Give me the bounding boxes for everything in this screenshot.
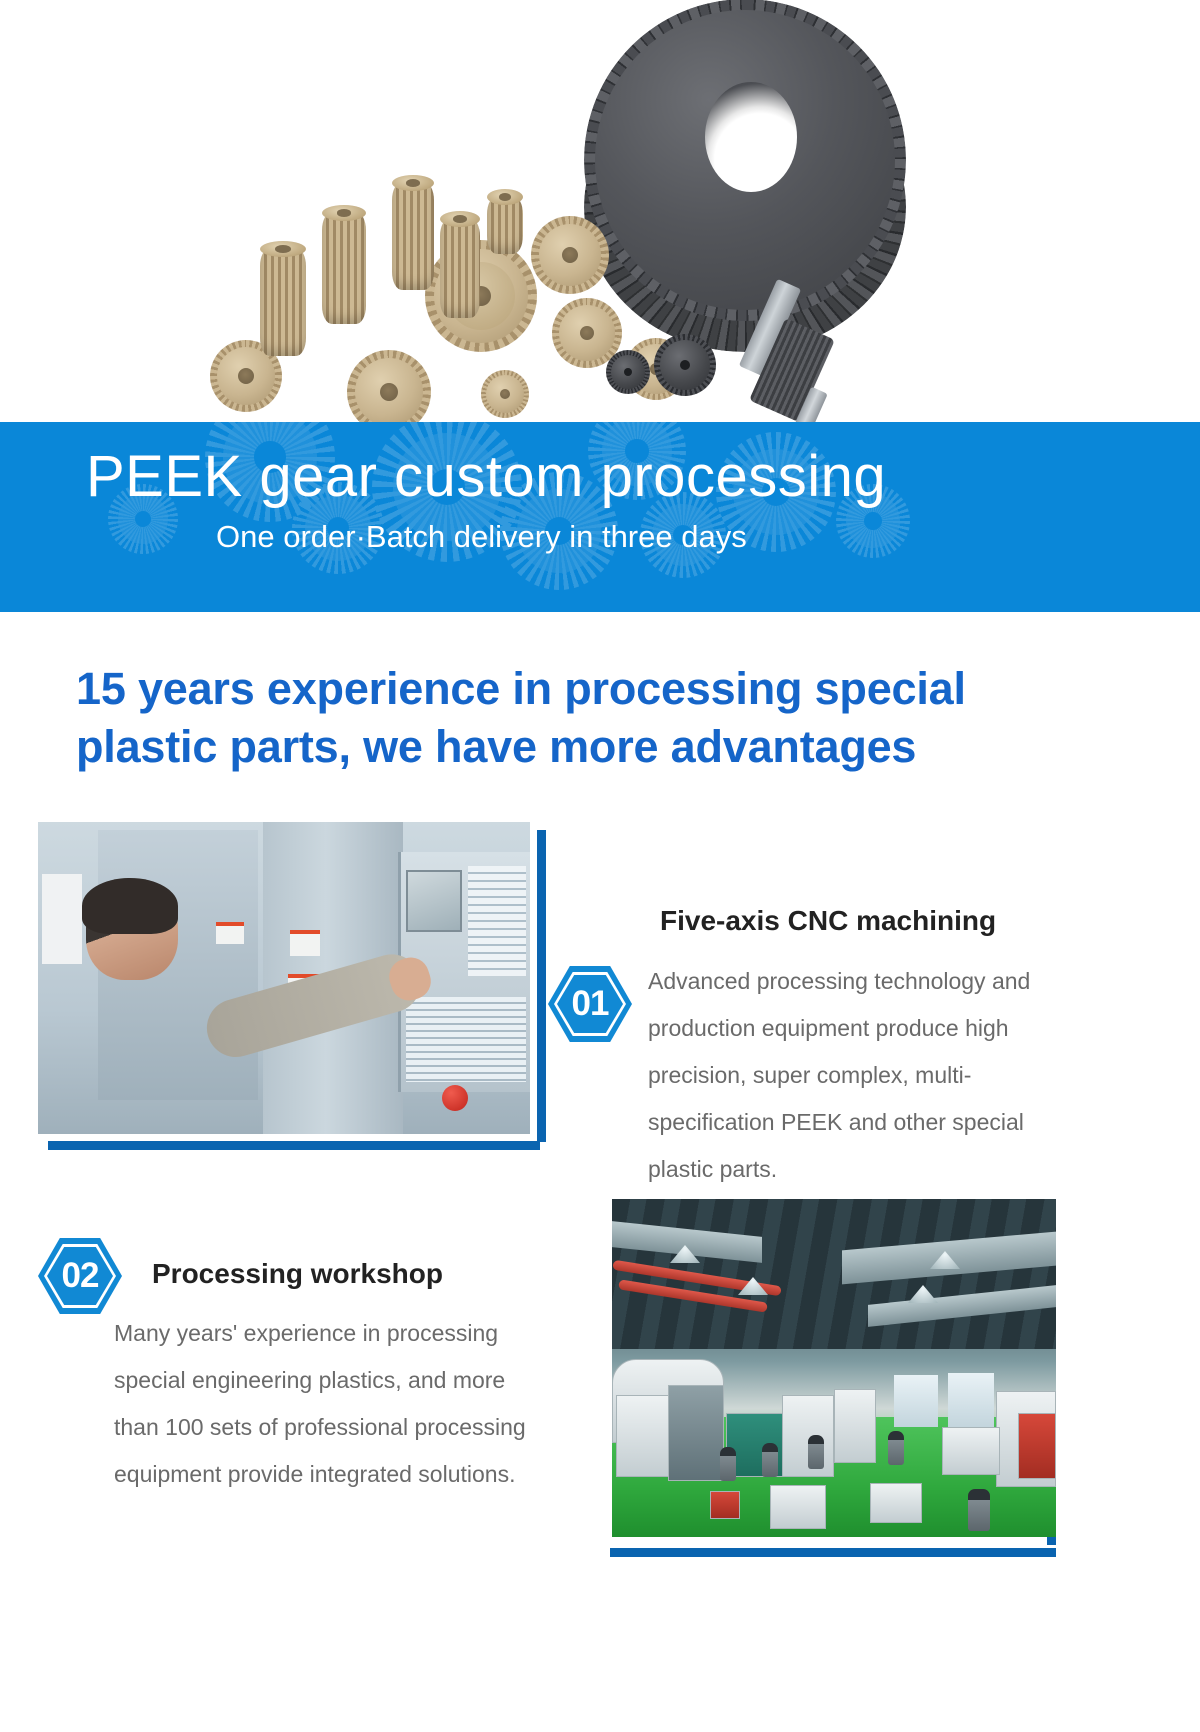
dark-gear-small-1 [606,350,650,394]
feature-badge-02-number: 02 [38,1238,122,1314]
feature-body-01: Advanced processing technology and produ… [648,958,1086,1193]
feature-badge-02: 02 [38,1238,122,1314]
banner-subtitle: One order·Batch delivery in three days [216,519,1200,555]
cnc-accent-right [537,830,546,1142]
hero-banner: PEEK gear custom processing One order·Ba… [0,422,1200,612]
workshop-accent-bottom [610,1548,1056,1557]
feature-title-02: Processing workshop [152,1258,443,1290]
peek-gear-medium-1 [531,216,609,294]
feature-badge-01: 01 [548,966,632,1042]
peek-cylindrical-gear-3 [392,182,434,290]
feature-title-01: Five-axis CNC machining [660,905,996,937]
peek-cylindrical-gear-2 [322,212,366,324]
hero-gears-photo [0,0,1200,430]
large-helical-gear-image [595,10,895,310]
processing-workshop-photo [612,1199,1056,1537]
cnc-accent-bottom [48,1141,540,1150]
dark-gear-small-2 [654,334,716,396]
cnc-photo-frame [38,822,538,1142]
product-detail-page: PEEK gear custom processing One order·Ba… [0,0,1200,1732]
section-headline: 15 years experience in processing specia… [76,660,1096,775]
feature-body-02: Many years' experience in processing spe… [114,1310,534,1498]
peek-gear-small-1 [481,370,529,418]
peek-cylindrical-gear-1 [260,248,306,356]
peek-cylindrical-gear-5 [487,196,523,254]
peek-cylindrical-gear-4 [440,218,480,318]
peek-gear-medium-3 [347,350,431,430]
banner-text-block: PEEK gear custom processing One order·Ba… [0,422,1200,555]
banner-title: PEEK gear custom processing [86,444,1200,511]
gear-bore [705,82,797,192]
workshop-photo-frame [548,1199,1048,1549]
cnc-machining-photo [38,822,530,1134]
feature-badge-01-number: 01 [548,966,632,1042]
